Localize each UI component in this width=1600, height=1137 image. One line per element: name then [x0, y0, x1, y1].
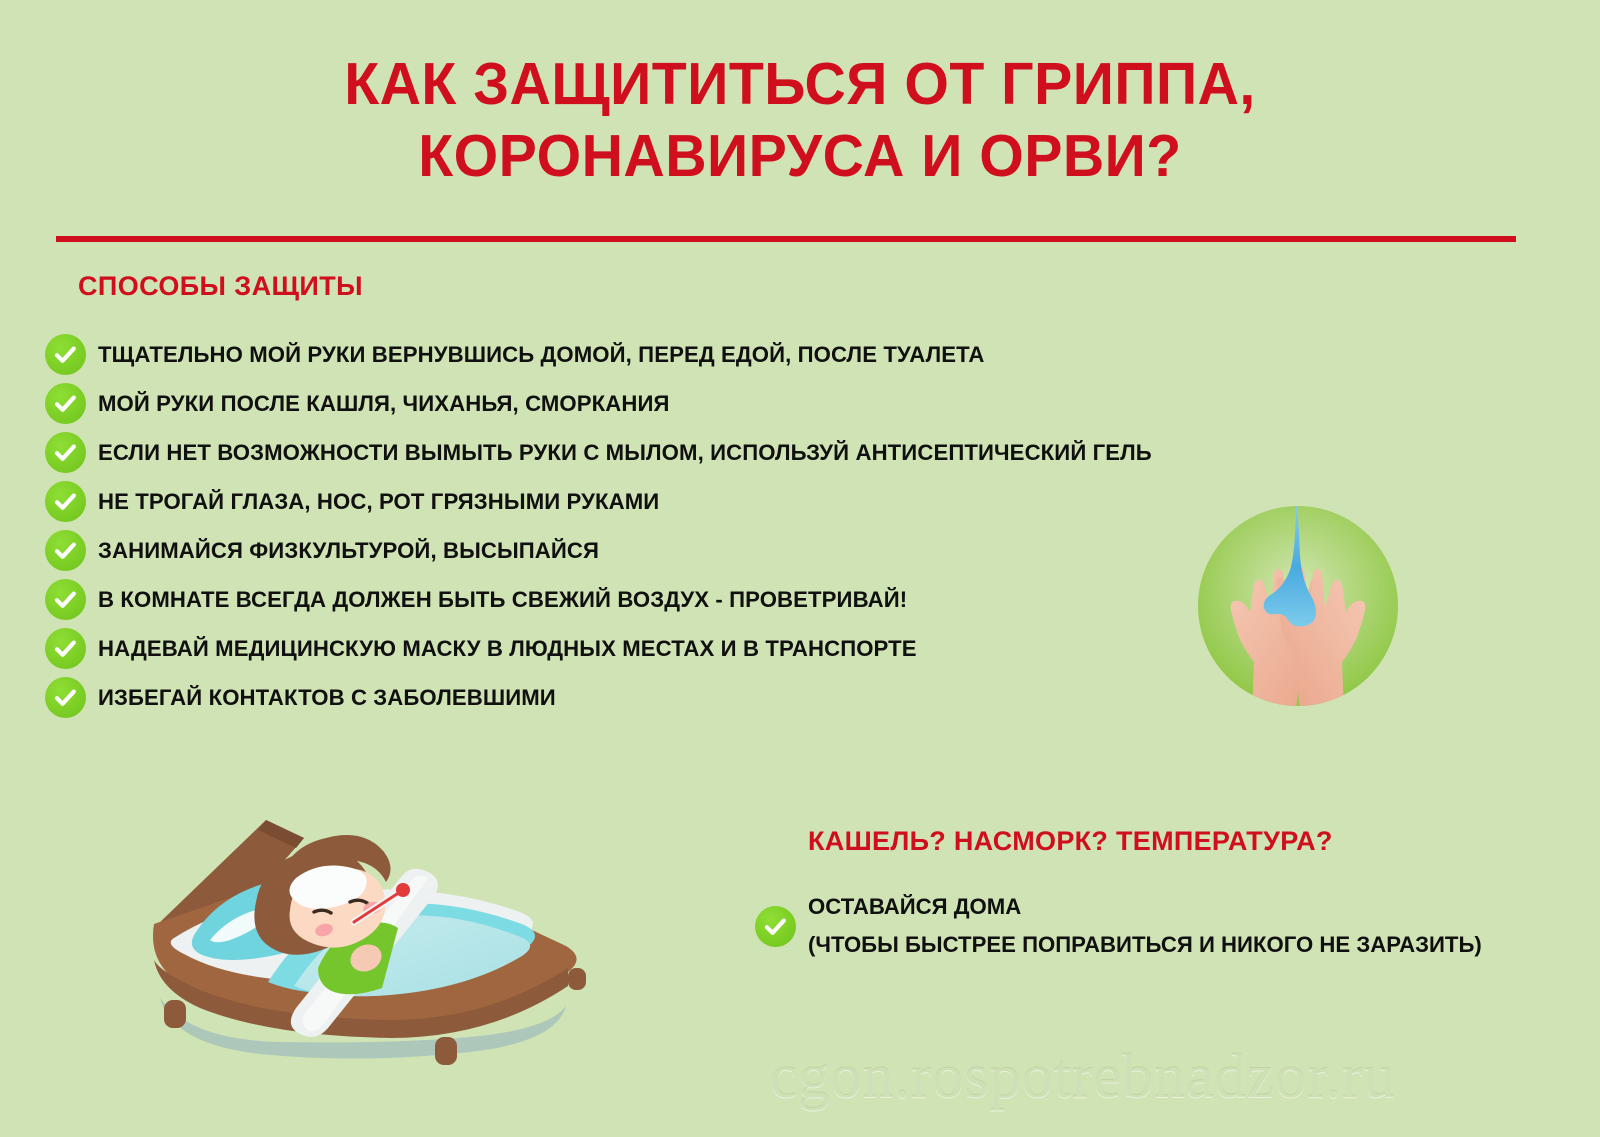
list-item-label: НАДЕВАЙ МЕДИЦИНСКУЮ МАСКУ В ЛЮДНЫХ МЕСТА…	[98, 636, 917, 662]
stay-home-row: ОСТАВАЙСЯ ДОМА (ЧТОБЫ БЫСТРЕЕ ПОПРАВИТЬС…	[755, 888, 1528, 964]
list-item: ИЗБЕГАЙ КОНТАКТОВ С ЗАБОЛЕВШИМИ	[45, 673, 1345, 722]
list-item-label: ЕСЛИ НЕТ ВОЗМОЖНОСТИ ВЫМЫТЬ РУКИ С МЫЛОМ…	[98, 440, 1152, 466]
check-circle-icon	[755, 906, 796, 947]
check-circle-icon	[45, 432, 86, 473]
list-item: В КОМНАТЕ ВСЕГДА ДОЛЖЕН БЫТЬ СВЕЖИЙ ВОЗД…	[45, 575, 1345, 624]
section-header-protection-methods: СПОСОБЫ ЗАЩИТЫ	[78, 271, 363, 302]
check-circle-icon	[45, 677, 86, 718]
check-circle-icon	[45, 579, 86, 620]
list-item-label: ТЩАТЕЛЬНО МОЙ РУКИ ВЕРНУВШИСЬ ДОМОЙ, ПЕР…	[98, 342, 984, 368]
check-circle-icon	[45, 628, 86, 669]
list-item: ЕСЛИ НЕТ ВОЗМОЖНОСТИ ВЫМЫТЬ РУКИ С МЫЛОМ…	[45, 428, 1345, 477]
list-item-label: НЕ ТРОГАЙ ГЛАЗА, НОС, РОТ ГРЯЗНЫМИ РУКАМ…	[98, 489, 659, 515]
check-circle-icon	[45, 383, 86, 424]
check-circle-icon	[45, 334, 86, 375]
list-item-label: МОЙ РУКИ ПОСЛЕ КАШЛЯ, ЧИХАНЬЯ, СМОРКАНИЯ	[98, 391, 670, 417]
list-item: НАДЕВАЙ МЕДИЦИНСКУЮ МАСКУ В ЛЮДНЫХ МЕСТА…	[45, 624, 1345, 673]
stay-home-note: (ЧТОБЫ БЫСТРЕЕ ПОПРАВИТЬСЯ И НИКОГО НЕ З…	[808, 926, 1482, 964]
list-item: НЕ ТРОГАЙ ГЛАЗА, НОС, РОТ ГРЯЗНЫМИ РУКАМ…	[45, 477, 1345, 526]
hands-with-sanitizer-gel-icon	[1180, 488, 1416, 724]
poster-title: КАК ЗАЩИТИТЬСЯ ОТ ГРИППА, КОРОНАВИРУСА И…	[0, 48, 1600, 192]
stay-home-block: КАШЕЛЬ? НАСМОРК? ТЕМПЕРАТУРА? ОСТАВАЙСЯ …	[808, 826, 1528, 964]
protection-checklist: ТЩАТЕЛЬНО МОЙ РУКИ ВЕРНУВШИСЬ ДОМОЙ, ПЕР…	[45, 330, 1345, 722]
check-circle-icon	[45, 481, 86, 522]
title-line-1: КАК ЗАЩИТИТЬСЯ ОТ ГРИППА,	[24, 48, 1576, 120]
poster-root: КАК ЗАЩИТИТЬСЯ ОТ ГРИППА, КОРОНАВИРУСА И…	[0, 0, 1600, 1137]
stay-home-texts: ОСТАВАЙСЯ ДОМА (ЧТОБЫ БЫСТРЕЕ ПОПРАВИТЬС…	[808, 888, 1492, 964]
sick-person-in-bed-icon	[118, 790, 608, 1082]
watermark: cgon.rospotrebnadzor.ru	[770, 1038, 1490, 1116]
check-circle-icon	[45, 530, 86, 571]
list-item: ТЩАТЕЛЬНО МОЙ РУКИ ВЕРНУВШИСЬ ДОМОЙ, ПЕР…	[45, 330, 1345, 379]
title-line-2: КОРОНАВИРУСА И ОРВИ?	[24, 120, 1576, 192]
list-item-label: ЗАНИМАЙСЯ ФИЗКУЛЬТУРОЙ, ВЫСЫПАЙСЯ	[98, 538, 599, 564]
list-item: МОЙ РУКИ ПОСЛЕ КАШЛЯ, ЧИХАНЬЯ, СМОРКАНИЯ	[45, 379, 1345, 428]
title-divider	[56, 236, 1516, 242]
list-item-label: ИЗБЕГАЙ КОНТАКТОВ С ЗАБОЛЕВШИМИ	[98, 685, 556, 711]
list-item: ЗАНИМАЙСЯ ФИЗКУЛЬТУРОЙ, ВЫСЫПАЙСЯ	[45, 526, 1345, 575]
symptoms-heading: КАШЕЛЬ? НАСМОРК? ТЕМПЕРАТУРА?	[808, 826, 1528, 857]
stay-home-label: ОСТАВАЙСЯ ДОМА	[808, 888, 1482, 926]
list-item-label: В КОМНАТЕ ВСЕГДА ДОЛЖЕН БЫТЬ СВЕЖИЙ ВОЗД…	[98, 587, 907, 613]
